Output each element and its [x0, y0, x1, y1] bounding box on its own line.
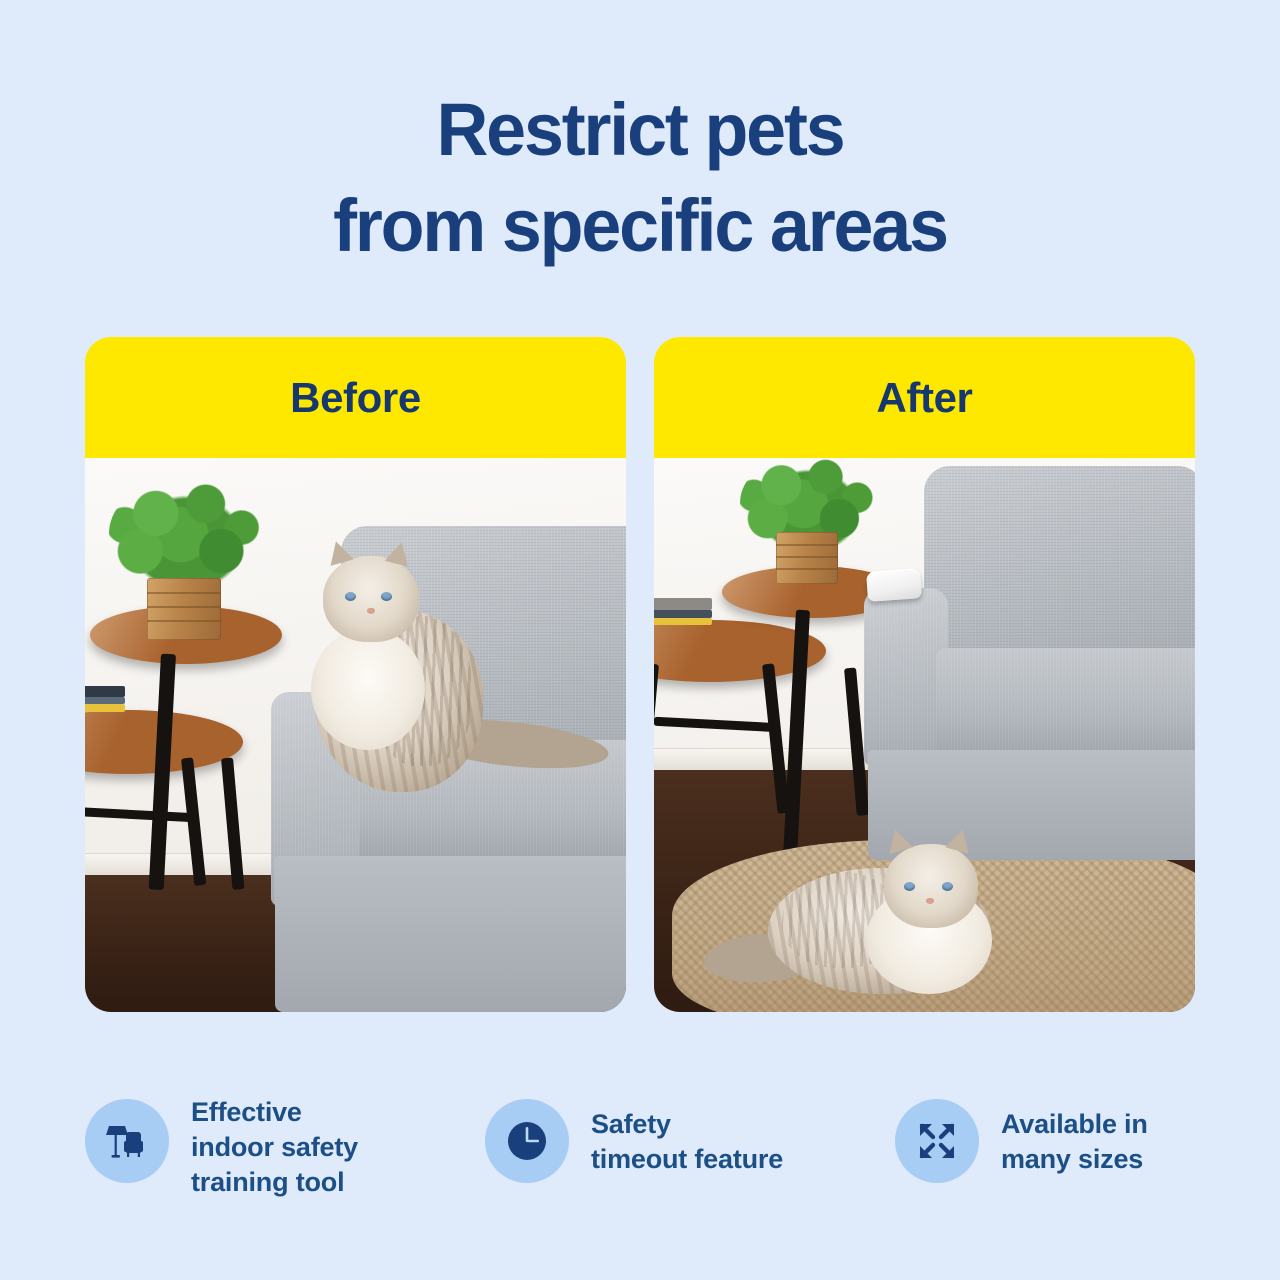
planter-box: [776, 532, 838, 584]
chair-back: [924, 466, 1195, 666]
page-title: Restrict pets from specific areas: [0, 82, 1280, 274]
after-panel: After: [654, 337, 1195, 1012]
before-panel: Before: [85, 337, 626, 1012]
cat-ruff: [311, 628, 425, 750]
clock-icon: [485, 1099, 569, 1183]
before-label: Before: [290, 374, 421, 422]
cat-eye: [942, 882, 953, 891]
feature-label: Effective indoor safety training tool: [191, 1085, 358, 1200]
cat-after: [712, 838, 1032, 1012]
after-banner: After: [654, 337, 1195, 458]
feature-item-safety-timeout: Safety timeout feature: [485, 1085, 895, 1183]
feature-item-many-sizes: Available in many sizes: [895, 1085, 1195, 1183]
chair-seat: [936, 648, 1195, 756]
before-photo: [85, 458, 626, 1012]
armchair: [864, 466, 1195, 866]
feature-label: Safety timeout feature: [591, 1085, 783, 1177]
before-after-comparison: Before: [85, 337, 1195, 1012]
pet-deterrent-device: [866, 568, 922, 602]
book-stack: [85, 686, 125, 712]
chair-base: [275, 856, 626, 1012]
feature-item-indoor-safety: Effective indoor safety training tool: [85, 1085, 485, 1200]
after-photo: [654, 458, 1195, 1012]
cat-eye: [381, 592, 392, 601]
before-banner: Before: [85, 337, 626, 458]
after-label: After: [876, 374, 972, 422]
cat-head: [884, 844, 978, 928]
headline-line-1: Restrict pets: [19, 82, 1261, 178]
book-stack: [654, 598, 712, 625]
planter-box: [147, 578, 221, 640]
cat-head: [323, 556, 419, 642]
cat-eye: [345, 592, 356, 601]
cat-nose: [926, 898, 934, 904]
headline-line-2: from specific areas: [19, 178, 1261, 274]
expand-arrows-icon: [895, 1099, 979, 1183]
cat-ear: [385, 539, 414, 566]
feature-row: Effective indoor safety training tool Sa…: [85, 1085, 1195, 1215]
infographic-page: Restrict pets from specific areas Before: [0, 0, 1280, 1280]
cat-before: [285, 544, 585, 802]
cat-eye: [904, 882, 915, 891]
lamp-armchair-icon: [85, 1099, 169, 1183]
feature-label: Available in many sizes: [1001, 1085, 1148, 1177]
cat-nose: [367, 608, 375, 614]
